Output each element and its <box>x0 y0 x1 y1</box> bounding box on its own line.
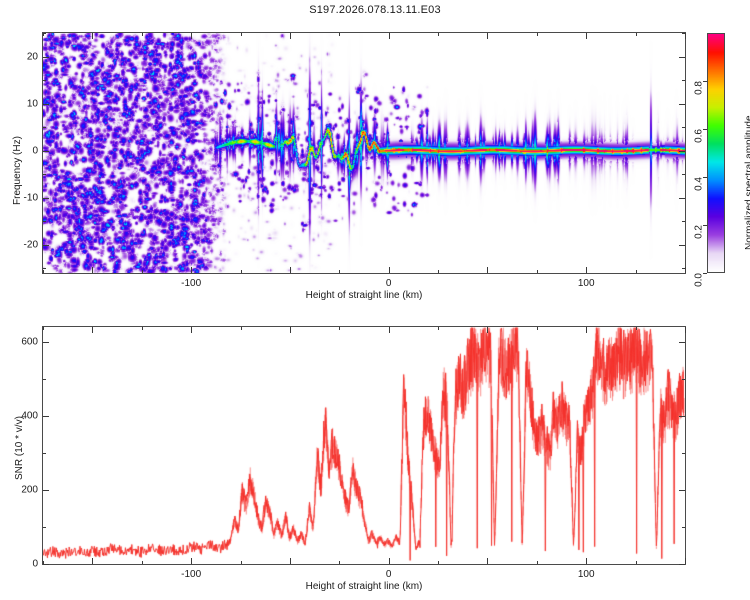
x-minor-tick <box>339 270 340 273</box>
x-minor-tick <box>43 327 44 330</box>
x-tick <box>191 558 192 564</box>
spectrogram-xaxis-label: Height of straight line (km) <box>306 290 423 301</box>
x-tick <box>487 33 488 39</box>
x-tick <box>92 558 93 564</box>
figure-title: S197.2026.078.13.11.E03 <box>0 4 750 16</box>
x-minor-tick <box>142 327 143 330</box>
x-tick <box>92 267 93 273</box>
x-minor-tick <box>438 561 439 564</box>
y-tick-label: 600 <box>12 336 38 347</box>
x-tick <box>586 33 587 39</box>
spectrogram-yaxis-label: Frequency (Hz) <box>12 136 23 205</box>
x-tick <box>290 33 291 39</box>
y-minor-tick <box>43 127 46 128</box>
y-tick <box>43 104 49 105</box>
x-tick <box>487 327 488 333</box>
y-minor-tick <box>43 268 46 269</box>
x-tick <box>290 327 291 333</box>
x-minor-tick <box>142 561 143 564</box>
spectrogram-plot-area <box>43 33 685 273</box>
x-minor-tick <box>241 270 242 273</box>
spectrogram-panel <box>42 32 686 274</box>
x-minor-tick <box>241 33 242 36</box>
y-tick <box>679 57 685 58</box>
x-tick <box>389 33 390 39</box>
x-minor-tick <box>339 561 340 564</box>
x-minor-tick <box>537 327 538 330</box>
x-minor-tick <box>438 327 439 330</box>
x-tick <box>487 558 488 564</box>
x-tick <box>92 327 93 333</box>
x-minor-tick <box>142 33 143 36</box>
x-tick <box>586 558 587 564</box>
colorbar-label: Normalized spectral amplitude <box>744 115 750 250</box>
x-minor-tick <box>636 327 637 330</box>
x-tick <box>191 267 192 273</box>
x-tick-label: 0 <box>386 569 392 580</box>
figure-root: S197.2026.078.13.11.E03 -100010020100-10… <box>0 0 750 600</box>
snr-xaxis-label: Height of straight line (km) <box>306 581 423 592</box>
y-tick-label: 10 <box>12 98 38 109</box>
x-tick <box>389 327 390 333</box>
x-tick <box>586 267 587 273</box>
y-tick <box>679 104 685 105</box>
x-tick-label: -100 <box>181 278 201 289</box>
snr-canvas <box>43 327 685 564</box>
y-minor-tick <box>682 127 685 128</box>
y-minor-tick <box>682 174 685 175</box>
y-tick <box>43 490 49 491</box>
x-tick <box>389 267 390 273</box>
y-minor-tick <box>682 527 685 528</box>
x-tick <box>487 267 488 273</box>
y-tick <box>679 490 685 491</box>
colorbar-tick-label: 0.8 <box>694 81 705 95</box>
x-tick-label: -100 <box>181 569 201 580</box>
x-minor-tick <box>537 561 538 564</box>
x-tick <box>389 558 390 564</box>
y-tick <box>679 198 685 199</box>
x-tick <box>290 267 291 273</box>
x-tick <box>685 327 686 333</box>
spectrogram-canvas <box>43 33 685 273</box>
x-tick <box>191 33 192 39</box>
y-minor-tick <box>682 80 685 81</box>
y-tick <box>43 245 49 246</box>
y-tick-label: 200 <box>12 484 38 495</box>
x-tick <box>290 558 291 564</box>
x-minor-tick <box>339 327 340 330</box>
x-tick <box>92 33 93 39</box>
y-minor-tick <box>43 174 46 175</box>
x-minor-tick <box>142 270 143 273</box>
y-minor-tick <box>43 221 46 222</box>
y-tick <box>679 151 685 152</box>
y-tick <box>43 57 49 58</box>
x-minor-tick <box>438 33 439 36</box>
y-tick <box>43 151 49 152</box>
x-minor-tick <box>537 270 538 273</box>
snr-panel <box>42 326 686 565</box>
y-tick <box>679 245 685 246</box>
y-minor-tick <box>682 221 685 222</box>
y-tick <box>43 564 49 565</box>
y-minor-tick <box>43 379 46 380</box>
y-tick <box>679 416 685 417</box>
colorbar <box>707 33 725 273</box>
y-tick-label: 20 <box>12 51 38 62</box>
y-minor-tick <box>43 33 46 34</box>
y-minor-tick <box>682 268 685 269</box>
colorbar-tick-label: 0.2 <box>694 225 705 239</box>
y-minor-tick <box>43 527 46 528</box>
x-minor-tick <box>438 270 439 273</box>
y-minor-tick <box>682 379 685 380</box>
y-minor-tick <box>43 80 46 81</box>
x-tick-label: 100 <box>578 278 595 289</box>
colorbar-tick-label: 0.6 <box>694 129 705 143</box>
y-tick-label: 0 <box>12 559 38 570</box>
x-minor-tick <box>636 33 637 36</box>
x-tick <box>685 267 686 273</box>
y-minor-tick <box>43 453 46 454</box>
colorbar-tick-label: 0.0 <box>694 273 705 287</box>
snr-plot-area <box>43 327 685 564</box>
y-tick <box>679 342 685 343</box>
x-tick <box>191 327 192 333</box>
y-tick <box>43 342 49 343</box>
x-minor-tick <box>636 561 637 564</box>
y-tick <box>43 416 49 417</box>
x-minor-tick <box>339 33 340 36</box>
y-tick-label: -20 <box>12 239 38 250</box>
colorbar-tick-label: 0.4 <box>694 177 705 191</box>
y-minor-tick <box>682 453 685 454</box>
x-minor-tick <box>241 327 242 330</box>
colorbar-gradient <box>708 34 724 272</box>
y-tick <box>43 198 49 199</box>
x-minor-tick <box>241 561 242 564</box>
x-tick-label: 100 <box>578 569 595 580</box>
y-tick <box>679 564 685 565</box>
x-minor-tick <box>636 270 637 273</box>
y-minor-tick <box>682 33 685 34</box>
x-tick <box>586 327 587 333</box>
x-tick <box>685 558 686 564</box>
x-tick-label: 0 <box>386 278 392 289</box>
x-minor-tick <box>43 270 44 273</box>
x-minor-tick <box>537 33 538 36</box>
x-tick <box>685 33 686 39</box>
snr-yaxis-label: SNR (10 * v/v) <box>14 416 25 480</box>
